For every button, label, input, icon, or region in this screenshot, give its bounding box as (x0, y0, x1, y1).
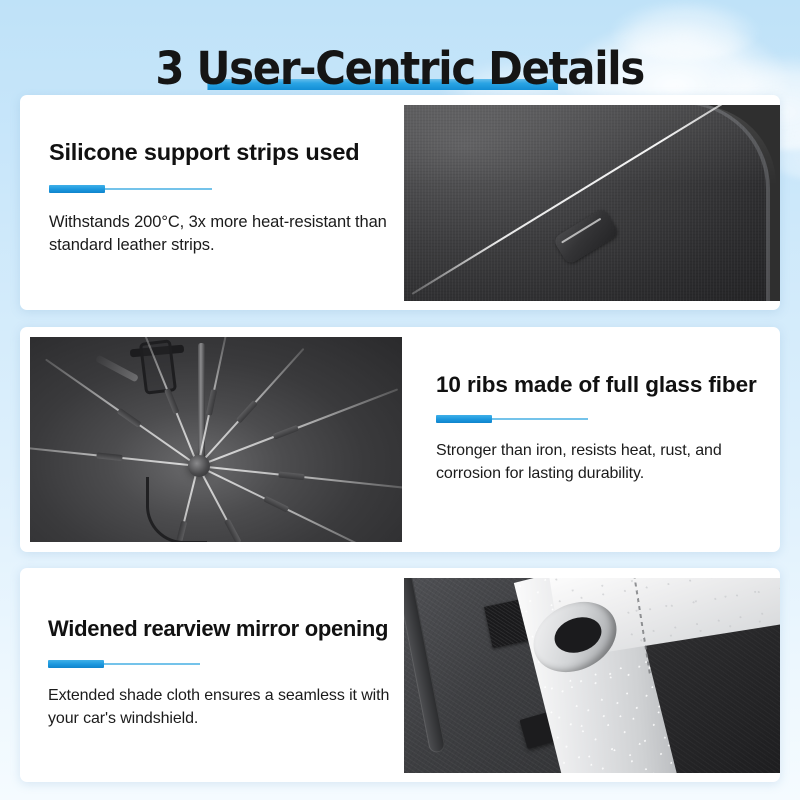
umbrella-hub (188, 455, 210, 477)
umbrella-rib (197, 466, 274, 542)
card-title: Widened rearview mirror opening (48, 616, 424, 642)
page-title-text: 3 User-Centric Details (156, 42, 645, 95)
accent-bar (49, 185, 105, 193)
card-text-pane: 10 ribs made of full glass fiber Stronge… (418, 327, 780, 552)
rib-tip (95, 355, 139, 383)
umbrella-canopy (30, 337, 402, 542)
card-text-pane: Silicone support strips used Withstands … (20, 95, 410, 310)
card-accent-divider (49, 185, 410, 193)
umbrella-rib (198, 388, 399, 467)
panel-edge-binding (404, 105, 770, 301)
card-product-image-silicone-strip (404, 105, 780, 301)
mirror-opening-scene (404, 578, 780, 773)
card-title: Silicone support strips used (49, 139, 410, 166)
feature-card-rearview-mirror-opening: Widened rearview mirror opening Extended… (20, 568, 780, 782)
card-title: 10 ribs made of full glass fiber (436, 372, 780, 398)
feature-card-glass-fiber-ribs: 10 ribs made of full glass fiber Stronge… (20, 327, 780, 552)
card-body-text: Withstands 200°C, 3x more heat-resistant… (49, 211, 410, 258)
feature-card-silicone-support-strips: Silicone support strips used Withstands … (20, 95, 780, 310)
card-product-image-umbrella-ribs (30, 337, 402, 542)
page-title: 3 User-Centric Details (156, 46, 645, 93)
card-body-text: Extended shade cloth ensures a seamless … (48, 685, 424, 730)
umbrella-cord (146, 477, 207, 542)
page-heading-wrapper: 3 User-Centric Details (0, 16, 800, 123)
card-body-text: Stronger than iron, resists heat, rust, … (436, 440, 780, 485)
accent-bar (436, 415, 492, 423)
card-product-image-mirror-opening (404, 578, 780, 773)
umbrella-rib (198, 465, 402, 489)
accent-bar (48, 660, 104, 668)
card-text-pane: Widened rearview mirror opening Extended… (20, 568, 424, 782)
card-accent-divider (48, 660, 424, 668)
card-accent-divider (436, 415, 780, 423)
